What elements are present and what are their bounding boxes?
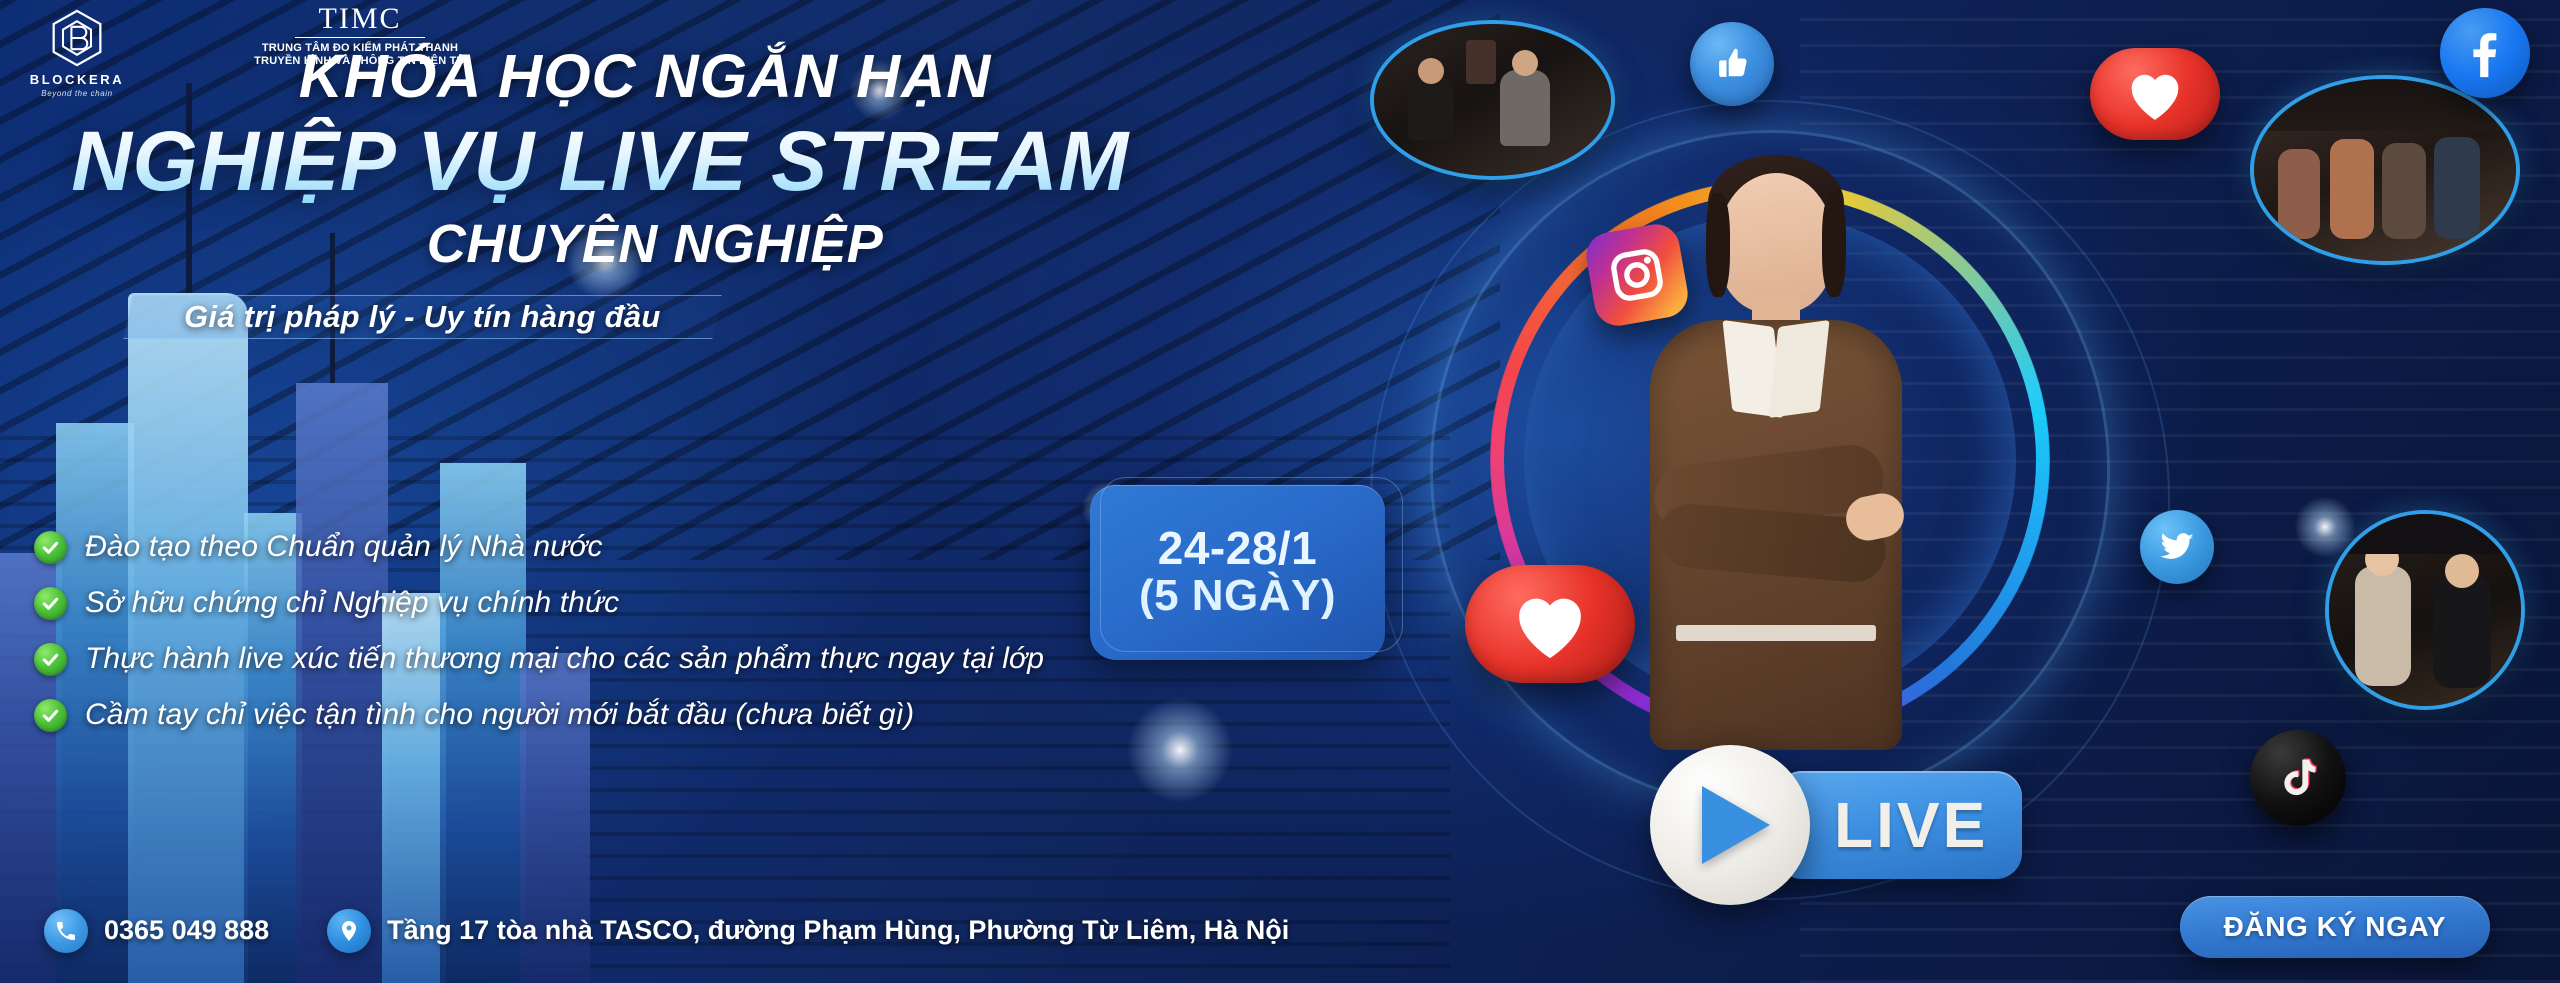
blockera-hexagon-icon xyxy=(49,8,105,68)
presenter-collar-right xyxy=(1768,320,1829,418)
address-contact: Tầng 17 tòa nhà TASCO, đường Phạm Hùng, … xyxy=(327,909,1289,953)
blockera-wordmark: BLOCKERA xyxy=(22,72,132,87)
facebook-icon[interactable] xyxy=(2440,8,2530,98)
register-now-button[interactable]: ĐĂNG KÝ NGAY xyxy=(2180,896,2490,958)
benefit-text: Cầm tay chỉ việc tận tình cho người mới … xyxy=(85,698,914,732)
headline-line2: NGHIỆP VỤ LIVE STREAM xyxy=(0,117,1160,205)
twitter-bird-icon[interactable] xyxy=(2140,510,2214,584)
timc-logo: TIMC TRUNG TÂM ĐO KIỂM PHÁT THANH TRUYỀN… xyxy=(150,4,570,69)
benefit-text: Thực hành live xúc tiến thương mại cho c… xyxy=(85,642,1044,676)
live-label: LIVE xyxy=(1776,771,2022,879)
heart-reaction-icon[interactable] xyxy=(2090,48,2220,140)
check-circle-icon xyxy=(34,643,67,676)
photo-equipment xyxy=(1466,40,1496,84)
timc-divider xyxy=(295,37,425,38)
photo-circle-livestream xyxy=(2325,510,2525,710)
course-promo-banner: BLOCKERA Beyond the chain TIMC TRUNG TÂM… xyxy=(0,0,2560,983)
presenter-hair-left xyxy=(1706,193,1730,297)
phone-number: 0365 049 888 xyxy=(104,915,269,946)
header-logos: BLOCKERA Beyond the chain TIMC TRUNG TÂM… xyxy=(0,0,1000,110)
blockera-logo: BLOCKERA Beyond the chain xyxy=(22,8,132,98)
photo-person-2 xyxy=(2330,139,2374,239)
facebook-like-icon[interactable] xyxy=(1690,22,1774,106)
photo-person-left xyxy=(2355,566,2411,686)
instagram-icon[interactable] xyxy=(1583,221,1692,330)
blockera-tagline: Beyond the chain xyxy=(22,89,132,98)
check-circle-icon xyxy=(34,699,67,732)
timc-acronym: TIMC xyxy=(150,4,570,34)
phone-contact[interactable]: 0365 049 888 xyxy=(44,909,269,953)
tagline-text: Giá trị pháp lý - Uy tín hàng đầu xyxy=(150,293,695,341)
photo-circle-studio xyxy=(1370,20,1615,180)
tagline-wrapper: Giá trị pháp lý - Uy tín hàng đầu xyxy=(0,293,1160,351)
list-item: Cầm tay chỉ việc tận tình cho người mới … xyxy=(34,698,1334,732)
presenter-belt xyxy=(1676,625,1876,641)
date-badge: 24-28/1 (5 NGÀY) xyxy=(1090,485,1385,660)
photo-person-3 xyxy=(2382,143,2426,239)
address-text: Tầng 17 tòa nhà TASCO, đường Phạm Hùng, … xyxy=(387,915,1289,946)
headline-line3: CHUYÊN NGHIỆP xyxy=(0,213,1160,275)
phone-icon xyxy=(44,909,88,953)
presenter-head xyxy=(1718,173,1834,313)
check-circle-icon xyxy=(34,587,67,620)
timc-subtitle-line2: TRUYỀN HÌNH VÀ THÔNG TIN ĐIỆN TỬ xyxy=(150,55,570,68)
date-range: 24-28/1 xyxy=(1158,524,1318,572)
photo-person-a xyxy=(1408,76,1454,140)
photo-head-b xyxy=(1512,50,1538,76)
play-triangle-icon xyxy=(1702,786,1770,864)
photo-person-right xyxy=(2433,576,2491,688)
photo-person-b xyxy=(1500,70,1550,146)
photo-circle-event xyxy=(2250,75,2520,265)
heart-reaction-icon[interactable] xyxy=(1465,565,1635,683)
location-pin-icon xyxy=(327,909,371,953)
footer-bar: 0365 049 888 Tầng 17 tòa nhà TASCO, đườn… xyxy=(0,878,2560,983)
photo-ceiling xyxy=(2329,514,2521,554)
date-duration: (5 NGÀY) xyxy=(1139,572,1336,620)
benefit-text: Sở hữu chứng chỉ Nghiệp vụ chính thức xyxy=(85,586,619,620)
tiktok-icon[interactable] xyxy=(2250,730,2346,826)
timc-subtitle-line1: TRUNG TÂM ĐO KIỂM PHÁT THANH xyxy=(150,42,570,55)
presenter-hair-right xyxy=(1822,193,1846,297)
photo-head-right xyxy=(2445,554,2479,588)
check-circle-icon xyxy=(34,531,67,564)
benefit-text: Đào tạo theo Chuẩn quản lý Nhà nước xyxy=(85,530,603,564)
photo-head-a xyxy=(1418,58,1444,84)
photo-person-4 xyxy=(2434,137,2480,239)
photo-person-1 xyxy=(2278,149,2320,239)
